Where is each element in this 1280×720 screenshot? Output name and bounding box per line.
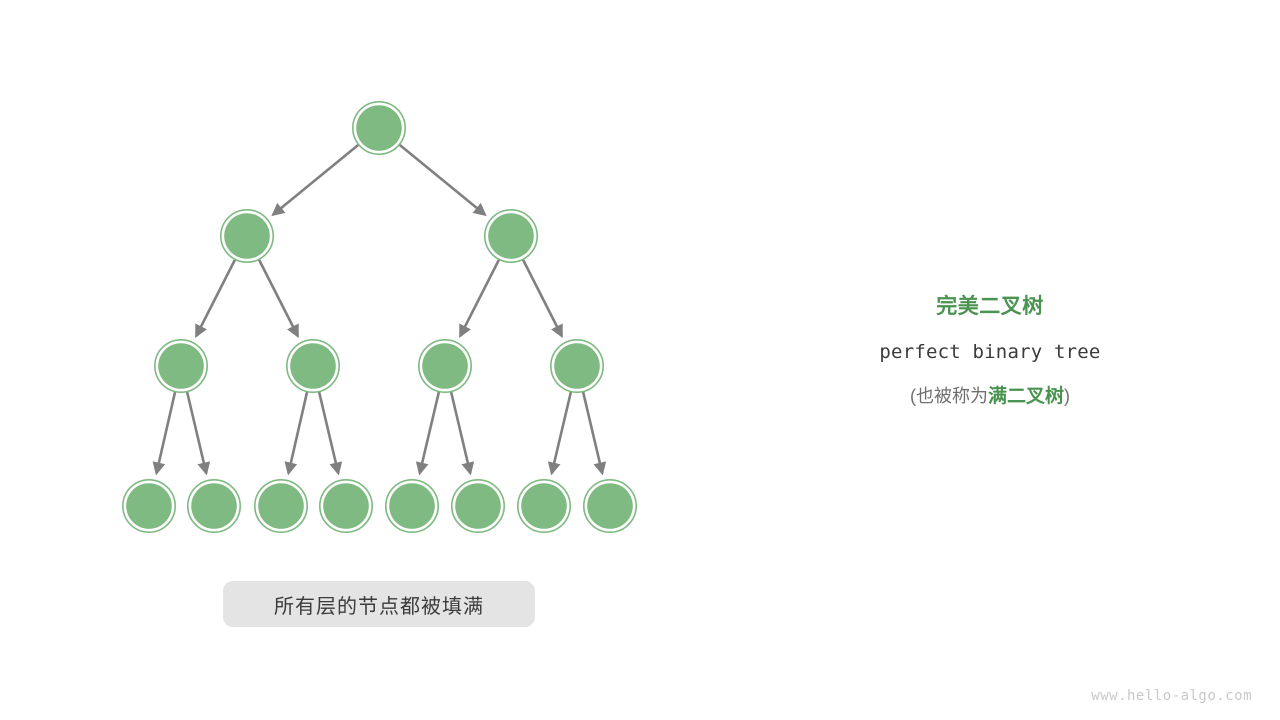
tree-edge — [460, 260, 499, 336]
tree-edge — [583, 392, 602, 474]
tree-node-fill — [389, 483, 435, 529]
tree-node — [155, 340, 207, 392]
tree-node — [123, 480, 175, 532]
caption-alt-highlight: 满二叉树 — [988, 386, 1064, 407]
caption-alt-suffix: ) — [1064, 386, 1070, 406]
tree-node-fill — [191, 483, 237, 529]
tree-edge — [196, 260, 235, 336]
tree-node-fill — [356, 105, 402, 151]
tree-node-fill — [323, 483, 369, 529]
tree-edge — [273, 145, 359, 215]
tree-edge — [156, 392, 175, 474]
caption-block: 完美二叉树 perfect binary tree (也被称为满二叉树) — [790, 292, 1190, 412]
tree-node — [485, 210, 537, 262]
tree-edge — [420, 392, 439, 474]
watermark: www.hello-algo.com — [1091, 688, 1252, 704]
tree-node-fill — [126, 483, 172, 529]
tree-edge — [187, 392, 206, 474]
tree-node-fill — [521, 483, 567, 529]
tree-node — [188, 480, 240, 532]
tree-edge — [288, 392, 307, 474]
tree-node-fill — [158, 343, 204, 389]
tree-node-fill — [587, 483, 633, 529]
tree-node-fill — [455, 483, 501, 529]
tree-node — [287, 340, 339, 392]
tree-node — [353, 102, 405, 154]
caption-subtitle: perfect binary tree — [790, 337, 1190, 367]
tree-edge — [259, 260, 298, 336]
fill-note-text: 所有层的节点都被填满 — [274, 590, 484, 619]
tree-node — [518, 480, 570, 532]
tree-nodes — [123, 102, 636, 532]
tree-node — [551, 340, 603, 392]
tree-node — [452, 480, 504, 532]
caption-alternative-name: (也被称为满二叉树) — [790, 381, 1190, 412]
tree-node — [584, 480, 636, 532]
caption-title: 完美二叉树 — [790, 292, 1190, 322]
tree-edges — [156, 145, 602, 474]
tree-edge — [451, 392, 470, 474]
tree-edge — [552, 392, 571, 474]
tree-edge — [319, 392, 338, 474]
caption-alt-prefix: (也被称为 — [910, 386, 988, 406]
tree-node — [320, 480, 372, 532]
tree-node-fill — [224, 213, 270, 259]
tree-node-fill — [258, 483, 304, 529]
tree-node-fill — [290, 343, 336, 389]
tree-edge — [523, 260, 562, 336]
tree-node-fill — [488, 213, 534, 259]
fill-note-label: 所有层的节点都被填满 — [223, 581, 535, 627]
tree-node — [221, 210, 273, 262]
tree-node-fill — [554, 343, 600, 389]
tree-node — [255, 480, 307, 532]
tree-node — [386, 480, 438, 532]
tree-node — [419, 340, 471, 392]
tree-edge — [400, 145, 486, 215]
tree-node-fill — [422, 343, 468, 389]
